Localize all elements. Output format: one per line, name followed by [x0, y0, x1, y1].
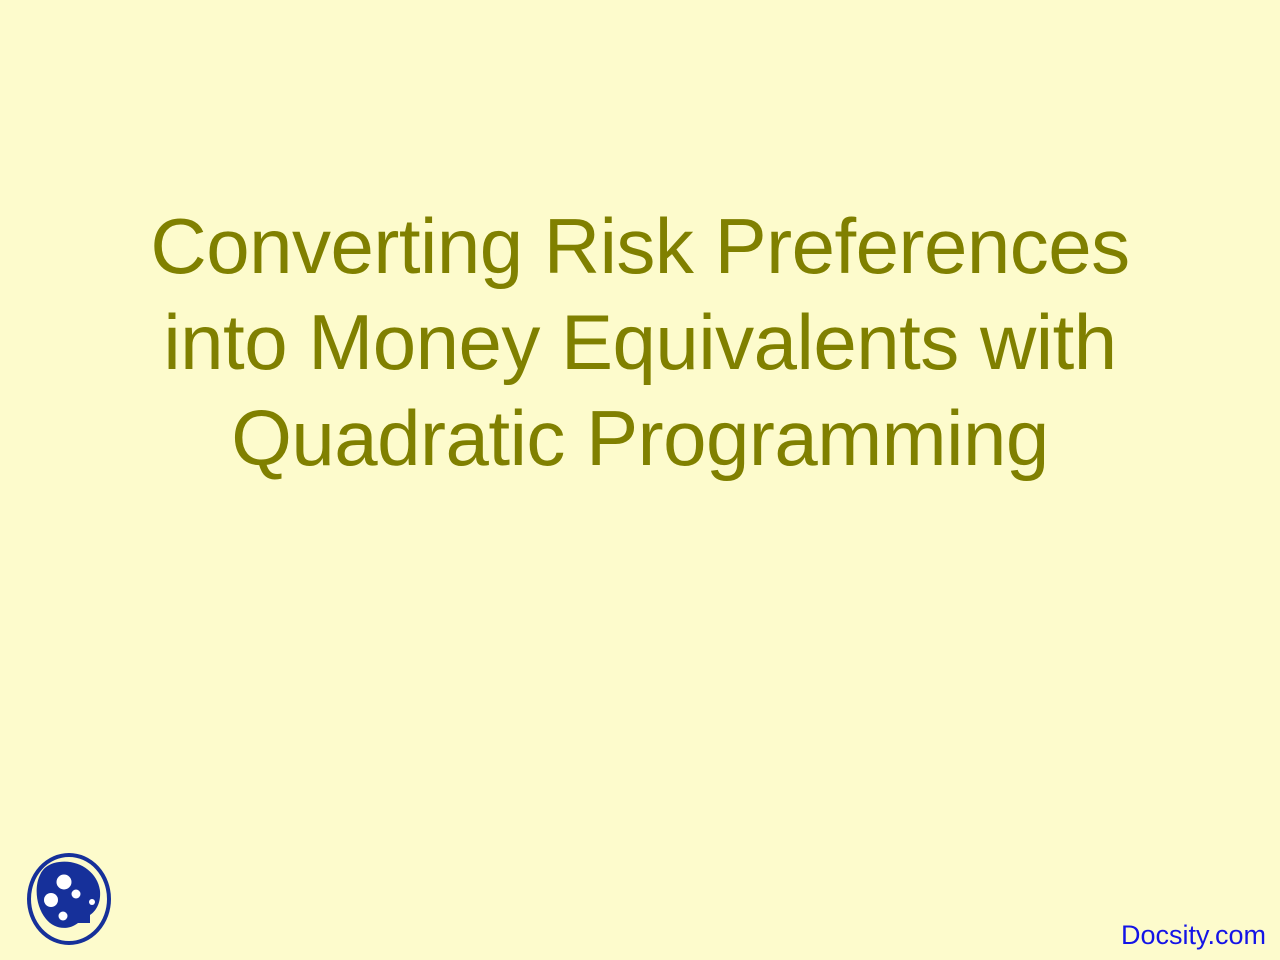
title-line-1: Converting Risk Preferences [90, 198, 1190, 294]
slide-canvas: Converting Risk Preferences into Money E… [0, 0, 1280, 960]
slide-title: Converting Risk Preferences into Money E… [90, 198, 1190, 486]
title-line-2: into Money Equivalents with [90, 294, 1190, 390]
title-line-3: Quadratic Programming [90, 390, 1190, 486]
docsity-watermark: Docsity.com [1121, 920, 1266, 951]
docsity-logo-icon [24, 849, 118, 949]
